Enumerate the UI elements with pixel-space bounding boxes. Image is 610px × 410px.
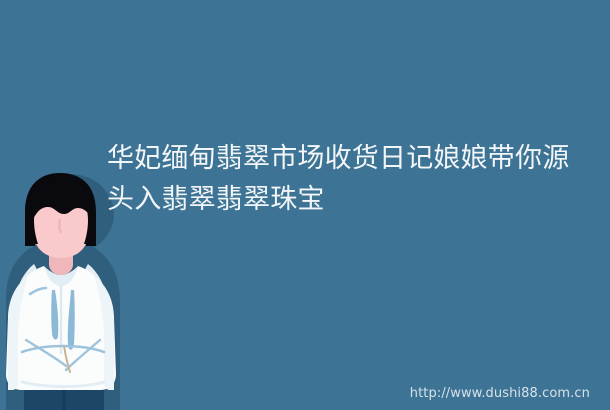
- hoodie: [6, 266, 116, 390]
- source-url-watermark: http://www.dushi88.com.cn: [410, 386, 590, 401]
- headline-text: 华妃缅甸翡翠市场收货日记娘娘带你源头入翡翠翡翠珠宝: [107, 138, 587, 220]
- article-thumbnail-card: 华妃缅甸翡翠市场收货日记娘娘带你源头入翡翠翡翠珠宝 http://www.dus…: [0, 0, 610, 410]
